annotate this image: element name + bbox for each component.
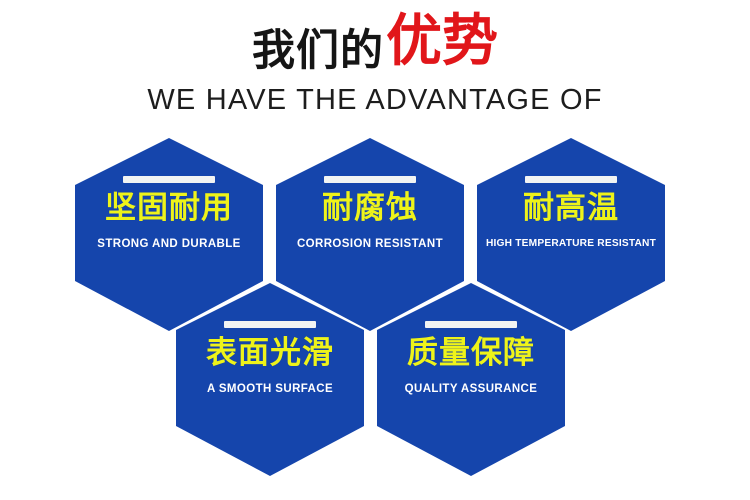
hexagon-shapes-svg: [0, 0, 750, 500]
hexagon-grid: 坚固耐用 STRONG AND DURABLE 耐腐蚀 CORROSION RE…: [0, 0, 750, 500]
advantage-poster: 我们的优势 WE HAVE THE ADVANTAGE OF 坚固耐用 STRO…: [0, 0, 750, 500]
